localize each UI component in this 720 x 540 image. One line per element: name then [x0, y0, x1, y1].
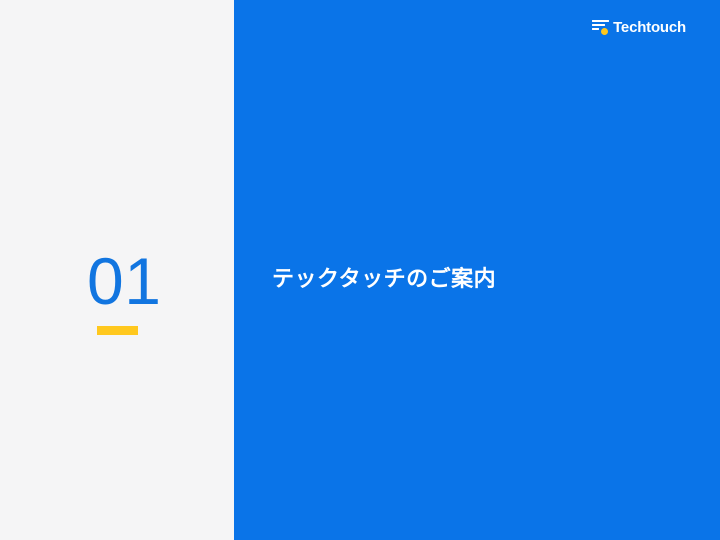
- logo-dot: [601, 28, 608, 35]
- section-accent-rule: [97, 326, 138, 335]
- left-panel: 01: [0, 0, 234, 540]
- logo-bar-top: [592, 20, 609, 22]
- logo-bar-middle: [592, 24, 605, 26]
- right-panel: Techtouch テックタッチのご案内: [234, 0, 720, 540]
- techtouch-lines-dot-icon: [592, 18, 609, 36]
- logo-wordmark: Techtouch: [613, 20, 686, 35]
- section-number: 01: [87, 248, 207, 314]
- section-number-block: 01: [87, 248, 207, 335]
- logo-bar-bottom: [592, 28, 599, 30]
- presentation-slide: 01 Techtouch テックタッチのご案内: [0, 0, 720, 540]
- section-title: テックタッチのご案内: [272, 266, 496, 292]
- techtouch-logo: Techtouch: [592, 16, 686, 38]
